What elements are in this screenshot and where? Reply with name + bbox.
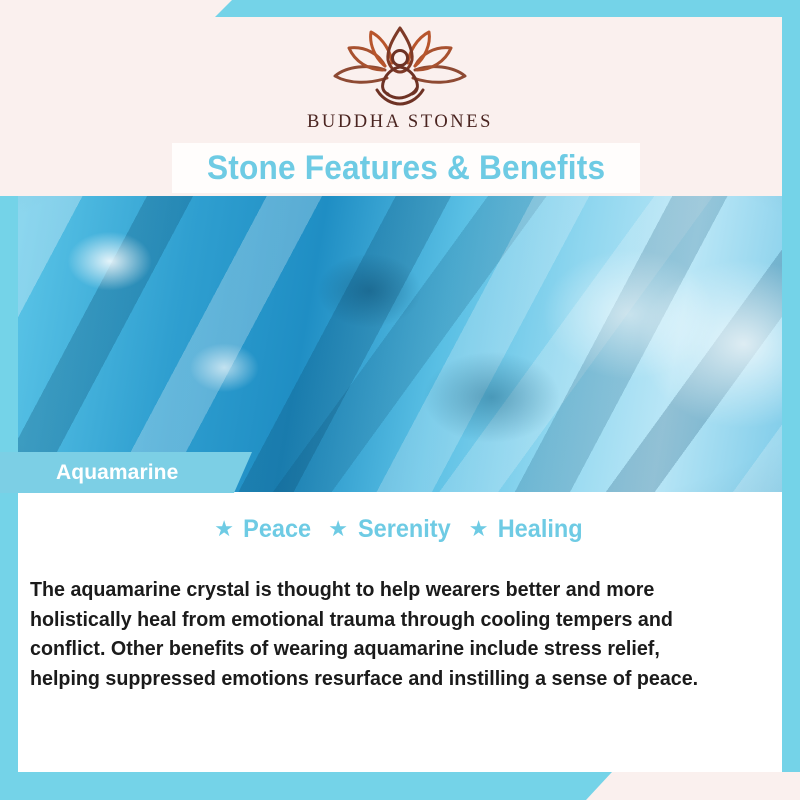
keyword-label: Peace (243, 515, 311, 544)
star-icon: ★ (214, 518, 234, 540)
stone-name-banner: Aquamarine (0, 452, 252, 493)
keyword-label: Serenity (358, 515, 451, 544)
page-title: Stone Features & Benefits (207, 149, 605, 188)
hero-image (18, 196, 782, 492)
keyword-healing: ★ Healing (469, 515, 586, 544)
poster-root: BUDDHA STONES Stone Features & Benefits … (0, 0, 800, 800)
brand-logo: BUDDHA STONES (0, 22, 800, 133)
photo-vignette (18, 196, 782, 492)
decor-band-bottom (0, 772, 612, 800)
keyword-label: Healing (498, 515, 583, 544)
title-ribbon: Stone Features & Benefits (172, 143, 640, 193)
description-text: The aquamarine crystal is thought to hel… (30, 576, 734, 694)
keyword-serenity: ★ Serenity (328, 515, 453, 544)
brand-wordmark: BUDDHA STONES (0, 112, 800, 133)
lotus-meditation-icon (325, 22, 475, 108)
keyword-row: ★ Peace ★ Serenity ★ Healing (18, 512, 782, 546)
star-icon: ★ (328, 518, 348, 540)
stone-name-label: Aquamarine (56, 461, 178, 485)
keyword-peace: ★ Peace (214, 515, 313, 544)
decor-band-left (0, 196, 18, 800)
star-icon: ★ (469, 518, 489, 540)
